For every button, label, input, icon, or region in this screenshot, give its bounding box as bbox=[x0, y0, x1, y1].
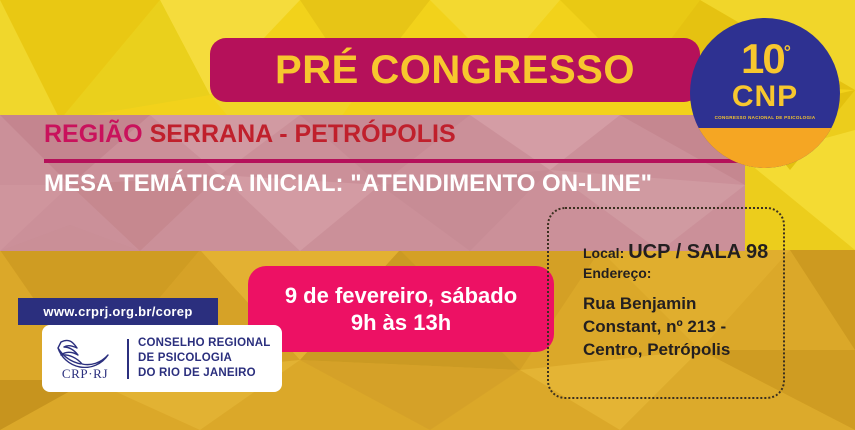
venue-value: UCP / SALA 98 bbox=[628, 241, 768, 263]
crprj-logo-card: CRP·RJ CONSELHO REGIONAL DE PSICOLOGIA D… bbox=[42, 325, 282, 392]
badge-abbreviation: CNP bbox=[732, 82, 798, 112]
date-time-box: 9 de fevereiro, sábado 9h às 13h bbox=[248, 266, 554, 352]
crprj-bird-icon: CRP·RJ bbox=[52, 334, 118, 384]
logo-divider bbox=[127, 339, 129, 379]
event-date: 9 de fevereiro, sábado bbox=[285, 282, 517, 310]
badge-degree-symbol: ° bbox=[784, 42, 789, 62]
region-name-primary: REGIÃO bbox=[44, 120, 143, 148]
crprj-org-name-line-2: DE PSICOLOGIA bbox=[138, 351, 270, 366]
crprj-wing-mark-svg bbox=[55, 336, 115, 368]
crprj-org-name: CONSELHO REGIONAL DE PSICOLOGIA DO RIO D… bbox=[138, 336, 270, 382]
venue-address-box: Local:UCP / SALA 98 Endereço: Rua Benjam… bbox=[547, 207, 785, 399]
badge-full-name: CONGRESSO NACIONAL DE PSICOLOGIA bbox=[715, 115, 816, 120]
event-title-bar: PRÉ CONGRESSO bbox=[210, 38, 700, 102]
region-name-secondary: SERRANA - PETRÓPOLIS bbox=[143, 120, 456, 148]
region-divider bbox=[44, 159, 784, 163]
address-line-1: Rua Benjamin bbox=[583, 293, 783, 316]
crprj-org-name-line-3: DO RIO DE JANEIRO bbox=[138, 366, 270, 381]
cnp-logo-badge: 10° CNP CONGRESSO NACIONAL DE PSICOLOGIA bbox=[690, 18, 840, 168]
badge-edition-value: 10 bbox=[741, 35, 784, 82]
event-time: 9h às 13h bbox=[351, 309, 451, 337]
address-line-3: Centro, Petrópolis bbox=[583, 339, 783, 362]
website-url: www.crprj.org.br/corep bbox=[43, 304, 192, 319]
venue-label: Local: bbox=[583, 245, 624, 261]
page-title: PRÉ CONGRESSO bbox=[275, 48, 635, 93]
theme-line: MESA TEMÁTICA INICIAL: "ATENDIMENTO ON-L… bbox=[44, 170, 652, 198]
badge-edition-number: 10° bbox=[741, 38, 789, 80]
crprj-wordmark: CRP·RJ bbox=[62, 366, 108, 382]
address-line-2: Constant, nº 213 - bbox=[583, 316, 783, 339]
address-label: Endereço: bbox=[583, 265, 783, 281]
website-url-bar[interactable]: www.crprj.org.br/corep bbox=[18, 298, 218, 325]
region-line: REGIÃO SERRANA - PETRÓPOLIS bbox=[44, 120, 456, 149]
address-value: Rua Benjamin Constant, nº 213 - Centro, … bbox=[583, 293, 783, 362]
event-banner: PRÉ CONGRESSO REGIÃO SERRANA - PETRÓPOLI… bbox=[0, 0, 855, 430]
venue-row: Local:UCP / SALA 98 bbox=[583, 241, 783, 264]
crprj-org-name-line-1: CONSELHO REGIONAL bbox=[138, 336, 270, 351]
